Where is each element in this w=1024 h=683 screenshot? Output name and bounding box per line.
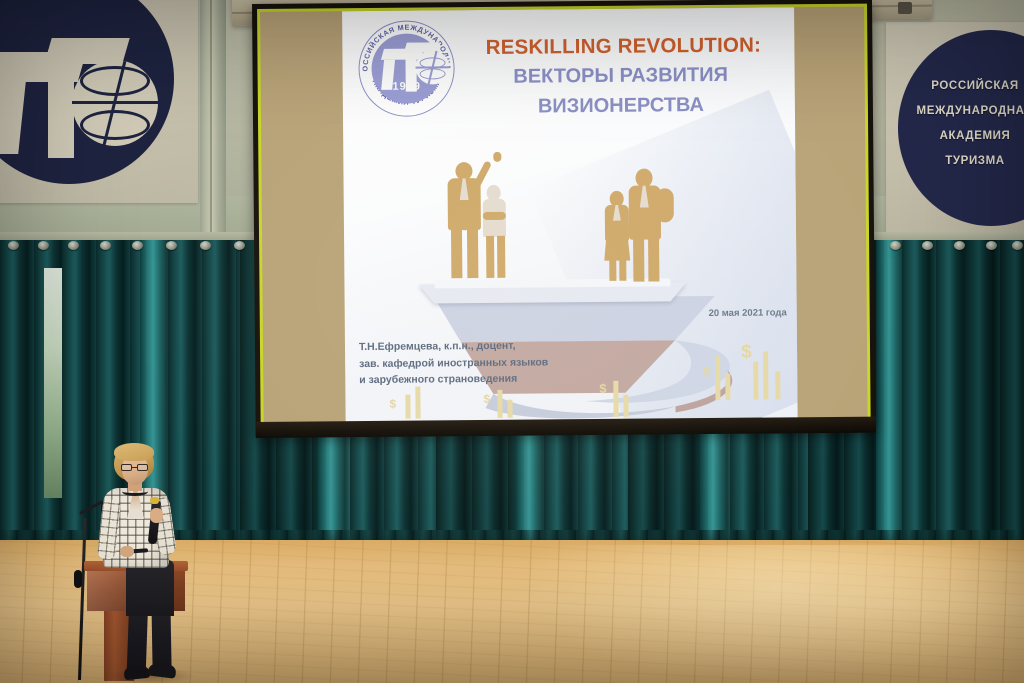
slide-figure-leg-right [648,237,659,281]
speaker-hair-fringe [114,443,154,461]
right-banner-line-1: РОССИЙСКАЯ [900,74,1024,99]
eyeglass-lens-left [121,464,132,471]
right-text-banner: РОССИЙСКАЯ МЕЖДУНАРОДНАЯ АКАДЕМИЯ ТУРИЗМ… [886,22,1024,238]
slide-figure-skirt [604,239,630,261]
speaker-shoe-left [123,665,150,681]
speaker-hand-left [120,546,134,557]
slide-subtitle: ВЕКТОРЫ РАЗВИТИЯ ВИЗИОНЕРСТВА [451,59,792,122]
curtain-panel [168,240,246,554]
screen-mount-bracket [898,2,912,14]
floor-light-pool [520,545,1024,683]
speaker-eyeglasses-icon [121,464,148,471]
eyeglass-lens-right [137,464,148,471]
slide-bar-motif [763,352,768,400]
curtain-grommet [1012,241,1023,250]
speaker-trousers [126,560,174,616]
curtain-grommet [68,241,79,250]
slide-figure-leg-right [619,259,626,281]
curtain-grommet [8,241,19,250]
slide-bar-motif [497,390,502,418]
slide-title: RESKILLING REVOLUTION: [460,33,786,60]
slide-figure-leg-left [486,236,494,278]
curtain-panel [964,240,1024,554]
screen-surface: РОССИЙСКАЯ МЕЖДУНАРОДНАЯ АКАДЕМИЯ ТУРИЗМ… [260,7,868,424]
slide-bar-motif [507,400,512,418]
curtain-panel [902,240,972,554]
projector-overscan-border: РОССИЙСКАЯ МЕЖДУНАРОДНАЯ АКАДЕМИЯ ТУРИЗМ… [257,4,871,427]
slide-dollar-motif: $ [703,364,710,379]
left-logo-banner [0,0,198,203]
slide-date: 20 мая 2021 года [617,307,787,319]
curtain-grommet [166,241,177,250]
speaker-necklace [122,487,148,496]
projection-screen: РОССИЙСКАЯ МЕЖДУНАРОДНАЯ АКАДЕМИЯ ТУРИЗМ… [252,0,876,436]
slide-figure-leg-left [609,259,616,281]
conference-hall-photo: РОССИЙСКАЯ МЕЖДУНАРОДНАЯ АКАДЕМИЯ ТУРИЗМ… [0,0,1024,683]
slide-author-block: Т.Н.Ефремцева, к.п.н., доцент, зав. кафе… [359,337,629,389]
mic-cable-clip [74,570,82,588]
slide-figure-arms-crossed [483,212,506,220]
slide-bar-motif [715,356,720,400]
slide-figure-leg-left [451,228,462,278]
wall-pilaster [200,0,226,240]
slide-subtitle-line-1: ВЕКТОРЫ РАЗВИТИЯ [451,59,791,92]
presentation-slide: РОССИЙСКАЯ МЕЖДУНАРОДНАЯ АКАДЕМИЯ ТУРИЗМ… [342,7,798,423]
slide-bar-motif [415,387,420,419]
slide-dollar-motif: $ [741,342,752,364]
wall-pilaster-groove [210,0,212,240]
slide-dollar-motif: $ [483,392,490,406]
slide-bar-motif [725,374,730,400]
slide-bar-motif [405,395,410,419]
slide-figure-leg-right [497,236,505,278]
right-banner-line-2: МЕЖДУНАРОДНАЯ [900,99,1024,124]
slide-subtitle-line-2: ВИЗИОНЕРСТВА [451,89,791,122]
slide-figure-shoulder-bag [656,188,674,222]
right-banner-line-3: АКАДЕМИЯ [900,124,1024,149]
speaker-hand-right [150,508,163,523]
logo-globe-parallel-bottom [80,110,150,140]
curtain-grommet [954,241,965,250]
slide-figure-hand [493,152,501,162]
slide-bar-motif [753,362,758,400]
curtain-grommet [922,241,933,250]
right-banner-line-4: ТУРИЗМА [900,149,1024,174]
microphone-windscreen [150,497,159,504]
right-banner-text: РОССИЙСКАЯ МЕЖДУНАРОДНАЯ АКАДЕМИЯ ТУРИЗМ… [900,74,1024,174]
slide-academy-emblem: РОССИЙСКАЯ МЕЖДУНАРОДНАЯ АКАДЕМИЯ ТУРИЗМ… [358,20,455,117]
window-daylight-gap [44,268,64,498]
curtain-grommet [100,241,111,250]
slide-figure-leg-left [633,238,644,282]
slide-bar-motif [775,371,780,399]
slide-dollar-motif: $ [389,397,396,411]
slide-figure-leg-right [467,228,478,278]
curtain-grommet [132,241,143,250]
slide-bar-motif [623,395,628,417]
curtain-grommet [234,241,245,250]
emblem-founding-year: 1969 [359,80,455,93]
curtain-grommet [38,241,49,250]
curtain-grommet [200,241,211,250]
curtain-grommet [986,241,997,250]
logo-stroke-4 [48,50,74,158]
slide-author-line-3: и зарубежного страноведения [359,370,629,389]
curtain-grommet [890,241,901,250]
